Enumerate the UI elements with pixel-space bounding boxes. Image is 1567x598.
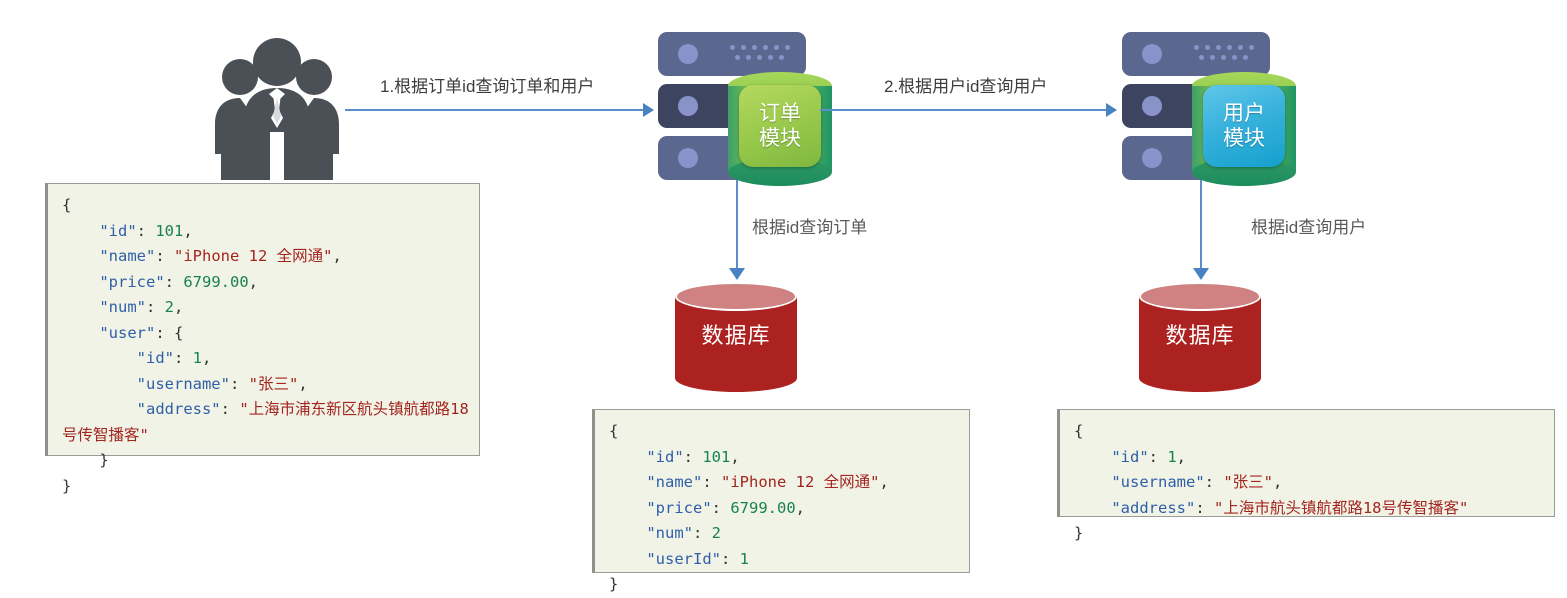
user-module-tile[interactable]: 用户 模块 [1203,85,1285,167]
code-token: : [1205,473,1224,491]
code-token [62,349,137,367]
code-token: 6799.00 [730,499,795,517]
code-token: 2 [712,524,721,542]
code-token [62,273,99,291]
order-json-box: { "id": 101, "name": "iPhone 12 全网通", "p… [592,409,970,573]
code-token: "id" [646,448,683,466]
order-database-icon: 数据库 [675,282,797,392]
code-token: "id" [1111,448,1148,466]
code-line: "name": "iPhone 12 全网通", [62,244,469,270]
code-token: , [174,298,183,316]
code-token: 1 [740,550,749,568]
code-token [609,473,646,491]
code-line: } [1074,521,1544,547]
code-token: "price" [646,499,711,517]
three-people-icon [207,32,347,180]
code-token: } [62,451,109,469]
arrow-4-line [1200,180,1202,270]
code-token: : [155,247,174,265]
rack-led-icon [678,44,698,64]
code-line: "id": 101, [609,445,959,471]
arrow-2-line [820,109,1108,111]
code-line: "address": "上海市浦东新区航头镇航都路18号传智播客" [62,397,469,448]
code-line: } [62,474,469,500]
code-token: "username" [137,375,230,393]
code-token [62,222,99,240]
code-token [1074,473,1111,491]
code-token [609,499,646,517]
arrow-4-label: 根据id查询用户 [1251,213,1366,238]
code-token: "num" [99,298,146,316]
user-database-label: 数据库 [1139,318,1261,350]
code-line: "id": 101, [62,219,469,245]
code-token: "name" [646,473,702,491]
code-token [1074,499,1111,517]
rack-dots-icon [730,45,792,63]
arrow-2-label: 2.根据用户id查询用户 [884,72,1047,97]
code-token [62,375,137,393]
code-token [62,400,137,418]
rack-led-icon [1142,148,1162,168]
code-token [609,550,646,568]
code-token: } [1074,524,1083,542]
code-token: , [796,499,805,517]
code-token: , [202,349,211,367]
code-token: : [702,473,721,491]
code-token: : [721,550,740,568]
code-token: "张三" [1223,473,1273,491]
order-module-tile[interactable]: 订单 模块 [739,85,821,167]
arrow-3-label: 根据id查询订单 [752,213,867,238]
rack-led-icon [1142,44,1162,64]
code-token: "iPhone 12 全网通" [174,247,332,265]
user-json-box: { "id": 1, "username": "张三", "address": … [1057,409,1555,517]
code-token: : [137,222,156,240]
rack-unit-top [1122,32,1270,76]
code-token: , [183,222,192,240]
code-line: { [62,193,469,219]
code-token: "price" [99,273,164,291]
code-token [609,448,646,466]
database-bottom [675,364,797,392]
code-token: "上海市航头镇航都路18号传智播客" [1214,499,1468,517]
arrow-2-head [1106,103,1117,117]
code-token: : [684,448,703,466]
code-token: : [1195,499,1214,517]
code-token: , [879,473,888,491]
code-line: "username": "张三", [1074,470,1544,496]
code-token: } [609,575,618,593]
code-line: { [1074,419,1544,445]
code-token: "张三" [249,375,299,393]
code-token: "num" [646,524,693,542]
code-token: : [1149,448,1168,466]
code-line: "price": 6799.00, [609,496,959,522]
user-module-label-line2: 模块 [1223,126,1265,151]
diagram-canvas: 1.根据订单id查询订单和用户 订单 模块 2.根据用户id查询用户 [0,0,1567,583]
code-token [609,524,646,542]
code-token: , [1273,473,1282,491]
code-token: : [146,298,165,316]
code-token: , [1177,448,1186,466]
code-token: , [730,448,739,466]
code-line: } [609,572,959,598]
code-token: "iPhone 12 全网通" [721,473,879,491]
code-token: : [174,349,193,367]
code-token: 1 [1167,448,1176,466]
code-token: 101 [702,448,730,466]
code-line: "num": 2 [609,521,959,547]
code-token: { [609,422,618,440]
code-token: , [249,273,258,291]
code-line: "name": "iPhone 12 全网通", [609,470,959,496]
code-token: , [298,375,307,393]
arrow-1-line [345,109,645,111]
code-token: } [62,477,71,495]
code-token: "user" [99,324,155,342]
code-token: "userId" [646,550,721,568]
database-top [675,282,797,311]
arrow-4-head [1193,268,1209,280]
rack-unit-top [658,32,806,76]
code-line: "username": "张三", [62,372,469,398]
code-token: "id" [99,222,136,240]
code-token: "name" [99,247,155,265]
code-token: , [332,247,341,265]
code-token: : [693,524,712,542]
code-token: { [62,196,71,214]
rack-led-icon [678,96,698,116]
code-token: "username" [1111,473,1204,491]
code-token: "id" [137,349,174,367]
code-token: { [1074,422,1083,440]
code-token [62,247,99,265]
code-token: "address" [1111,499,1195,517]
code-token [1074,448,1111,466]
arrow-1-label: 1.根据订单id查询订单和用户 [380,72,594,97]
order-module-label-line2: 模块 [759,126,801,151]
code-token: "address" [137,400,221,418]
code-token: 101 [155,222,183,240]
order-module-label-line1: 订单 [759,101,801,126]
code-token: : [230,375,249,393]
user-database-icon: 数据库 [1139,282,1261,392]
user-module-label-line1: 用户 [1223,101,1265,126]
code-line: "price": 6799.00, [62,270,469,296]
arrow-3-line [736,180,738,270]
code-token: : [712,499,731,517]
code-token: : { [155,324,183,342]
arrow-1-head [643,103,654,117]
code-token: 6799.00 [183,273,248,291]
code-token [62,324,99,342]
code-line: "address": "上海市航头镇航都路18号传智播客" [1074,496,1544,522]
order-with-user-json-box: { "id": 101, "name": "iPhone 12 全网通", "p… [45,183,480,456]
arrow-3-head [729,268,745,280]
rack-dots-icon [1194,45,1256,63]
code-line: { [609,419,959,445]
code-token [62,298,99,316]
database-top [1139,282,1261,311]
code-line: } [62,448,469,474]
code-token: 1 [193,349,202,367]
database-bottom [1139,364,1261,392]
code-line: "id": 1, [1074,445,1544,471]
rack-led-icon [678,148,698,168]
code-token: : [221,400,240,418]
code-token: : [165,273,184,291]
code-token: 2 [165,298,174,316]
code-line: "user": { [62,321,469,347]
rack-led-icon [1142,96,1162,116]
code-line: "num": 2, [62,295,469,321]
code-line: "id": 1, [62,346,469,372]
order-database-label: 数据库 [675,318,797,350]
code-line: "userId": 1 [609,547,959,573]
